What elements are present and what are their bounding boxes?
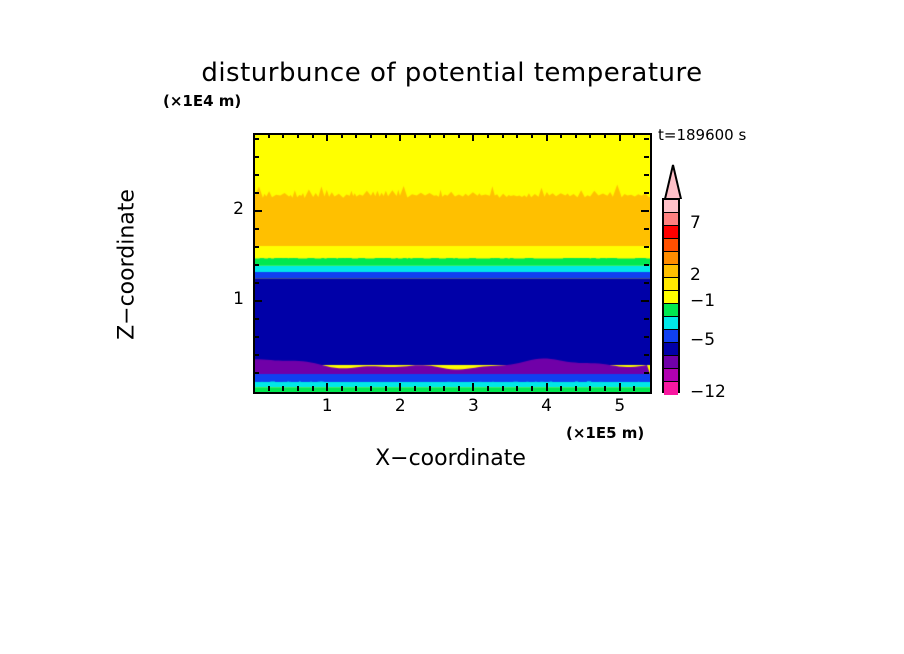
colorbar-band <box>664 317 678 330</box>
plot-area <box>253 133 652 394</box>
axis-tick <box>546 383 548 391</box>
x-tick-label: 2 <box>385 396 415 416</box>
colorbar-band <box>664 369 678 382</box>
axis-tick <box>282 133 284 138</box>
y-axis-title: Z−coordinate <box>115 135 140 395</box>
axis-tick <box>297 133 299 138</box>
axis-tick <box>254 264 259 266</box>
axis-tick <box>254 354 259 356</box>
colorbar-tick-label: −5 <box>690 330 715 350</box>
axis-tick <box>370 133 372 138</box>
axis-tick <box>429 386 431 391</box>
colorbar-band <box>664 278 678 291</box>
time-annotation: t=189600 s <box>658 126 746 144</box>
colorbar-band <box>664 356 678 369</box>
axis-tick <box>254 318 259 320</box>
axis-tick <box>531 133 533 138</box>
axis-tick <box>341 133 343 138</box>
axis-tick <box>282 386 284 391</box>
x-tick-label: 3 <box>458 396 488 416</box>
axis-tick <box>458 133 460 138</box>
colorbar-band <box>664 304 678 317</box>
axis-tick <box>604 133 606 138</box>
axis-tick <box>254 228 259 230</box>
axis-tick <box>560 386 562 391</box>
axis-tick <box>312 386 314 391</box>
colorbar-band <box>664 291 678 304</box>
colorbar-arrow-icon <box>660 163 686 199</box>
axis-tick <box>254 210 262 212</box>
page-title: disturbunce of potential temperature <box>0 58 904 88</box>
axis-tick <box>644 138 649 140</box>
axis-tick <box>297 386 299 391</box>
axis-tick <box>312 133 314 138</box>
colorbar-tick-label: 2 <box>690 265 701 285</box>
colorbar-band <box>664 265 678 278</box>
axis-tick <box>399 383 401 391</box>
axis-tick <box>589 386 591 391</box>
axis-tick <box>575 133 577 138</box>
axis-tick <box>254 174 259 176</box>
axis-tick <box>268 386 270 391</box>
axis-tick <box>254 282 259 284</box>
colorbar <box>660 163 686 395</box>
axis-tick <box>254 336 259 338</box>
axis-tick <box>443 133 445 138</box>
axis-tick <box>619 383 621 391</box>
axis-tick <box>644 228 649 230</box>
x-axis-unit-label: (×1E5 m) <box>566 424 644 442</box>
axis-tick <box>443 386 445 391</box>
colorbar-bands <box>662 198 680 393</box>
axis-tick <box>326 133 328 141</box>
axis-tick <box>644 354 649 356</box>
axis-tick <box>546 133 548 141</box>
axis-tick <box>575 386 577 391</box>
axis-tick <box>644 156 649 158</box>
axis-tick <box>254 156 259 158</box>
axis-tick <box>268 133 270 138</box>
x-tick-label: 4 <box>532 396 562 416</box>
axis-tick <box>254 372 259 374</box>
axis-tick <box>516 133 518 138</box>
axis-tick <box>458 386 460 391</box>
colorbar-tick-label: 7 <box>690 213 701 233</box>
axis-tick <box>254 192 259 194</box>
axis-tick <box>487 386 489 391</box>
axis-tick <box>644 372 649 374</box>
axis-tick <box>355 133 357 138</box>
axis-tick <box>644 174 649 176</box>
axis-tick <box>633 133 635 138</box>
axis-tick <box>644 336 649 338</box>
axis-tick <box>604 386 606 391</box>
colorbar-tick-label: −1 <box>690 291 715 311</box>
axis-tick <box>326 383 328 391</box>
z-axis-unit-label: (×1E4 m) <box>163 92 241 110</box>
colorbar-band <box>664 252 678 265</box>
y-tick-label: 1 <box>214 289 244 309</box>
colorbar-band <box>664 226 678 239</box>
axis-tick <box>429 133 431 138</box>
contour-plot-figure: disturbunce of potential temperature (×1… <box>0 0 904 654</box>
colorbar-band <box>664 343 678 356</box>
axis-tick <box>487 133 489 138</box>
axis-tick <box>472 383 474 391</box>
axis-tick <box>516 386 518 391</box>
axis-tick <box>254 138 259 140</box>
axis-tick <box>414 386 416 391</box>
y-tick-label: 2 <box>214 199 244 219</box>
axis-tick <box>619 133 621 141</box>
x-axis-title: X−coordinate <box>253 446 648 471</box>
colorbar-band <box>664 382 678 395</box>
colorbar-band <box>664 330 678 343</box>
axis-tick <box>355 386 357 391</box>
colorbar-band <box>664 239 678 252</box>
axis-tick <box>502 386 504 391</box>
axis-tick <box>414 133 416 138</box>
colorbar-band <box>664 200 678 213</box>
axis-tick <box>341 386 343 391</box>
axis-tick <box>254 246 259 248</box>
axis-tick <box>254 300 262 302</box>
axis-tick <box>560 133 562 138</box>
axis-tick <box>370 386 372 391</box>
x-tick-label: 5 <box>605 396 635 416</box>
contour-field <box>255 135 650 392</box>
axis-tick <box>641 210 649 212</box>
axis-tick <box>644 246 649 248</box>
axis-tick <box>385 386 387 391</box>
axis-tick <box>644 264 649 266</box>
colorbar-band <box>664 213 678 226</box>
axis-tick <box>644 318 649 320</box>
axis-tick <box>641 300 649 302</box>
colorbar-tick-label: −12 <box>690 382 726 402</box>
axis-tick <box>644 282 649 284</box>
axis-tick <box>633 386 635 391</box>
axis-tick <box>472 133 474 141</box>
axis-tick <box>589 133 591 138</box>
axis-tick <box>399 133 401 141</box>
axis-tick <box>385 133 387 138</box>
axis-tick <box>502 133 504 138</box>
axis-tick <box>531 386 533 391</box>
axis-tick <box>644 192 649 194</box>
x-tick-label: 1 <box>312 396 342 416</box>
